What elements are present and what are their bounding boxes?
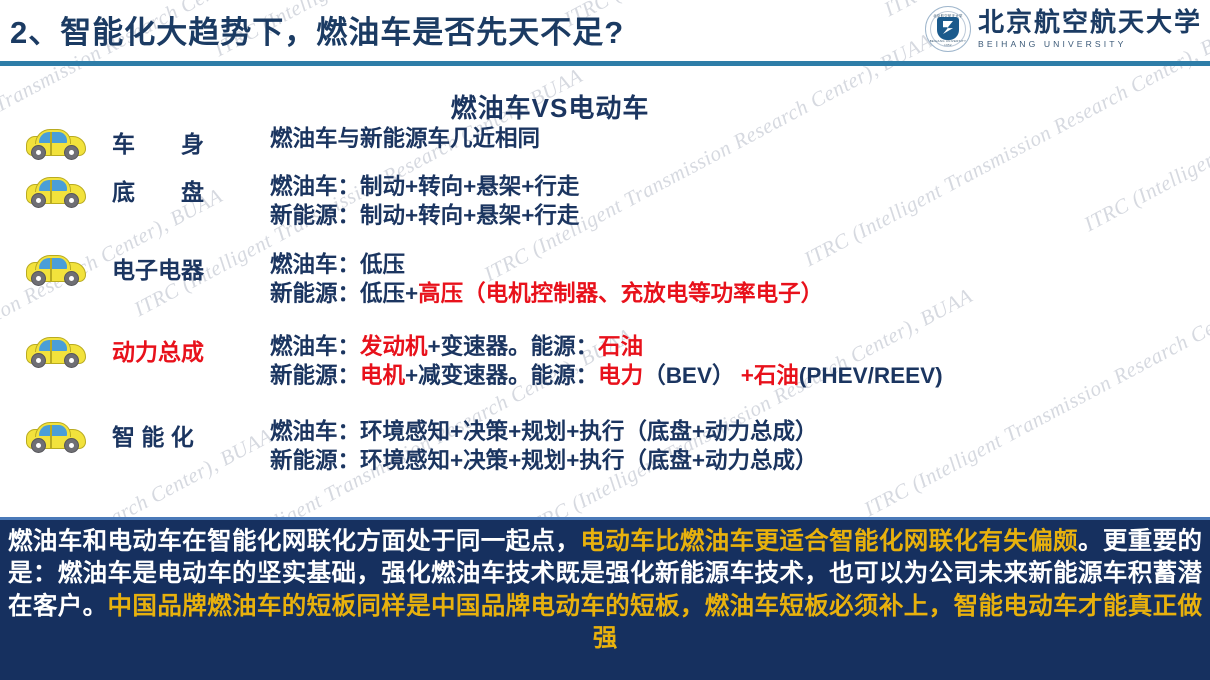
detail-text: （BEV） [643, 363, 734, 388]
car-front-wheel [31, 145, 46, 160]
row-detail-cell: 燃油车：低压新能源：低压+高压（电机控制器、充放电等功率电子） [270, 250, 1210, 309]
detail-text: 新能源：低压+ [270, 281, 418, 306]
row-detail-line: 新能源：环境感知+决策+规划+执行（底盘+动力总成） [270, 446, 1210, 475]
car-window-shape [39, 180, 67, 191]
row-detail-line: 新能源：电机+减变速器。能源：电力（BEV） +石油(PHEV/REEV) [270, 361, 1210, 390]
car-window-shape [39, 258, 67, 269]
car-door-pillar [50, 258, 52, 281]
highlight-text: 石油 [598, 334, 643, 359]
row-detail-line: 燃油车：制动+转向+悬架+行走 [270, 172, 1210, 201]
row-label: 智 能 化 [112, 417, 270, 452]
yellow-beetle-car-icon [25, 126, 87, 160]
row-icon-cell [0, 417, 112, 453]
comparison-title: 燃油车VS电动车 [0, 88, 1100, 125]
detail-text: 燃油车与新能源车几近相同 [270, 126, 540, 151]
row-detail-line: 燃油车与新能源车几近相同 [270, 124, 1210, 153]
highlight-text: 电机 [360, 363, 405, 388]
highlight-text: +石油 [734, 363, 798, 388]
car-rear-wheel [64, 271, 79, 286]
car-front-wheel [31, 353, 46, 368]
seal-shield-icon [937, 17, 959, 40]
car-rear-wheel [64, 438, 79, 453]
row-detail-cell: 燃油车：制动+转向+悬架+行走新能源：制动+转向+悬架+行走 [270, 172, 1210, 231]
row-label: 动力总成 [112, 332, 270, 367]
row-label: 电子电器 [112, 250, 270, 285]
row-detail-line: 新能源：低压+高压（电机控制器、充放电等功率电子） [270, 279, 1210, 308]
comparison-row: 智 能 化燃油车：环境感知+决策+规划+执行（底盘+动力总成）新能源：环境感知+… [0, 417, 1210, 495]
conclusion-highlight: 电动车比燃油车更适合智能化网联化有失偏颇 [580, 528, 1078, 555]
row-detail-line: 燃油车：发动机+变速器。能源：石油 [270, 332, 1210, 361]
row-label: 车 身 [112, 124, 270, 159]
slide-canvas: ITRC (Intelligent Transmission Research … [0, 0, 1210, 680]
conclusion-plain: 燃油车和电动车在智能化网联化方面处于同一起点， [8, 528, 580, 555]
detail-text: 新能源：制动+转向+悬架+行走 [270, 203, 579, 228]
conclusion-highlight: 中国品牌燃油车的短板同样是中国品牌电动车的短板，燃油车短板必须补上，智能电动车才… [108, 593, 1202, 652]
comparison-table: 车 身燃油车与新能源车几近相同底 盘燃油车：制动+转向+悬架+行走新能源：制动+… [0, 124, 1210, 495]
yellow-beetle-car-icon [25, 419, 87, 453]
car-window-shape [39, 425, 67, 436]
detail-text: 新能源： [270, 363, 360, 388]
car-front-wheel [31, 271, 46, 286]
car-window-shape [39, 340, 67, 351]
row-icon-cell [0, 332, 112, 368]
car-rear-wheel [64, 193, 79, 208]
car-rear-wheel [64, 353, 79, 368]
yellow-beetle-car-icon [25, 174, 87, 208]
row-detail-line: 新能源：制动+转向+悬架+行走 [270, 201, 1210, 230]
comparison-row: 动力总成燃油车：发动机+变速器。能源：石油新能源：电机+减变速器。能源：电力（B… [0, 332, 1210, 417]
yellow-beetle-car-icon [25, 252, 87, 286]
row-icon-cell [0, 250, 112, 286]
detail-text: 新能源：环境感知+决策+规划+执行（底盘+动力总成） [270, 448, 818, 473]
car-rear-wheel [64, 145, 79, 160]
car-door-pillar [50, 132, 52, 155]
car-door-pillar [50, 425, 52, 448]
row-label: 底 盘 [112, 172, 270, 207]
university-seal-icon: 北京航空航天大学 BEIHANG UNIVERSITY 1952 [925, 6, 971, 52]
detail-text: 燃油车：环境感知+决策+规划+执行（底盘+动力总成） [270, 419, 818, 444]
yellow-beetle-car-icon [25, 334, 87, 368]
comparison-row: 底 盘燃油车：制动+转向+悬架+行走新能源：制动+转向+悬架+行走 [0, 172, 1210, 250]
car-door-pillar [50, 180, 52, 203]
car-window-shape [39, 132, 67, 143]
highlight-text: 高压（电机控制器、充放电等功率电子） [418, 281, 823, 306]
row-detail-line: 燃油车：低压 [270, 250, 1210, 279]
header-divider [0, 61, 1210, 66]
page-title: 2、智能化大趋势下，燃油车是否先天不足? [10, 7, 624, 52]
row-icon-cell [0, 124, 112, 160]
detail-text: 燃油车：制动+转向+悬架+行走 [270, 174, 579, 199]
detail-text: (PHEV/REEV) [799, 363, 943, 388]
seal-bottom-text: BEIHANG UNIVERSITY 1952 [926, 39, 970, 47]
detail-text: 燃油车： [270, 334, 360, 359]
row-detail-line: 燃油车：环境感知+决策+规划+执行（底盘+动力总成） [270, 417, 1210, 446]
detail-text: 燃油车：低压 [270, 252, 405, 277]
row-detail-cell: 燃油车与新能源车几近相同 [270, 124, 1210, 153]
highlight-text: 发动机 [360, 334, 428, 359]
row-detail-cell: 燃油车：环境感知+决策+规划+执行（底盘+动力总成）新能源：环境感知+决策+规划… [270, 417, 1210, 476]
row-icon-cell [0, 172, 112, 208]
logo-name-en: BEIHANG UNIVERSITY [978, 40, 1202, 49]
comparison-row: 电子电器燃油车：低压新能源：低压+高压（电机控制器、充放电等功率电子） [0, 250, 1210, 332]
detail-text: +变速器。能源： [428, 334, 599, 359]
car-front-wheel [31, 438, 46, 453]
conclusion-text: 燃油车和电动车在智能化网联化方面处于同一起点，电动车比燃油车更适合智能化网联化有… [8, 526, 1202, 655]
comparison-row: 车 身燃油车与新能源车几近相同 [0, 124, 1210, 172]
beihang-university-logo: 北京航空航天大学 BEIHANG UNIVERSITY 1952 北京航空航天大… [925, 4, 1202, 54]
conclusion-banner: 燃油车和电动车在智能化网联化方面处于同一起点，电动车比燃油车更适合智能化网联化有… [0, 517, 1210, 680]
detail-text: +减变速器。能源： [405, 363, 598, 388]
logo-wordmark: 北京航空航天大学 BEIHANG UNIVERSITY [978, 10, 1202, 49]
logo-name-cn: 北京航空航天大学 [978, 10, 1202, 36]
car-front-wheel [31, 193, 46, 208]
car-door-pillar [50, 340, 52, 363]
row-detail-cell: 燃油车：发动机+变速器。能源：石油新能源：电机+减变速器。能源：电力（BEV） … [270, 332, 1210, 391]
highlight-text: 电力 [598, 363, 643, 388]
